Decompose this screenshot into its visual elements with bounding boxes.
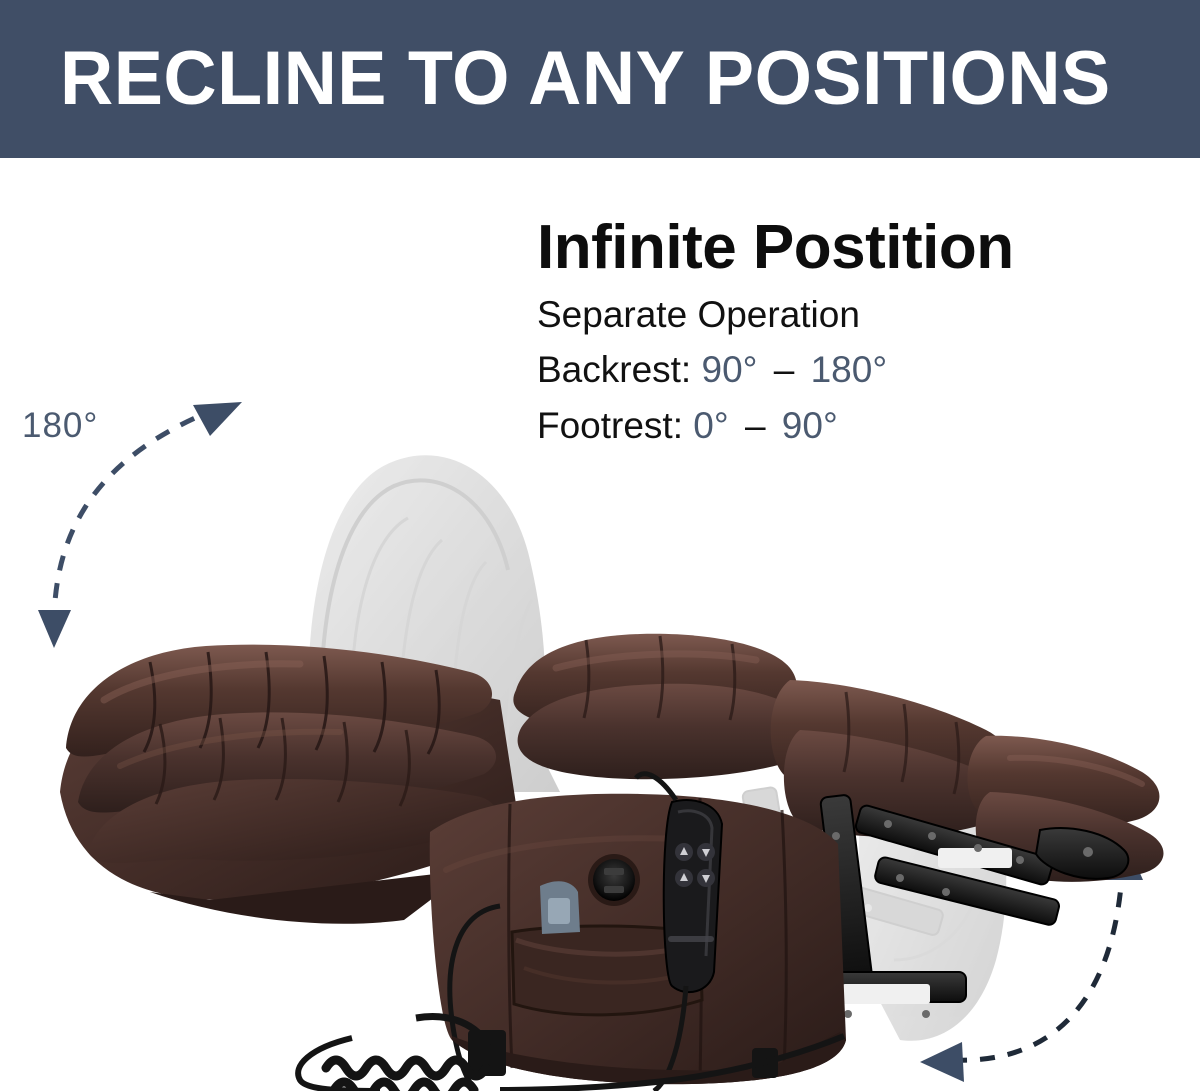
recliner-illustration [0, 400, 1200, 1091]
spec-backrest-label: Backrest: [537, 349, 691, 390]
remote-control[interactable] [664, 800, 722, 992]
spec-backrest-dash: – [768, 349, 801, 390]
feature-heading: Infinite Postition [537, 214, 1177, 282]
headrest-pillow [513, 634, 811, 779]
header-banner: RECLINE TO ANY POSITIONS [0, 0, 1200, 158]
product-infographic: RECLINE TO ANY POSITIONS Infinite Postit… [0, 0, 1200, 1091]
feature-subtitle: Separate Operation [537, 292, 1177, 338]
spec-backrest-max: 180° [811, 349, 888, 390]
mechanism-label [938, 848, 1012, 868]
mechanism-label-2 [842, 984, 930, 1004]
pocket-item [540, 881, 580, 934]
usb-port[interactable] [588, 854, 640, 906]
spec-backrest-min: 90° [702, 349, 758, 390]
banner-title: RECLINE TO ANY POSITIONS [60, 34, 1111, 124]
spec-backrest: Backrest: 90° – 180° [537, 346, 1177, 394]
